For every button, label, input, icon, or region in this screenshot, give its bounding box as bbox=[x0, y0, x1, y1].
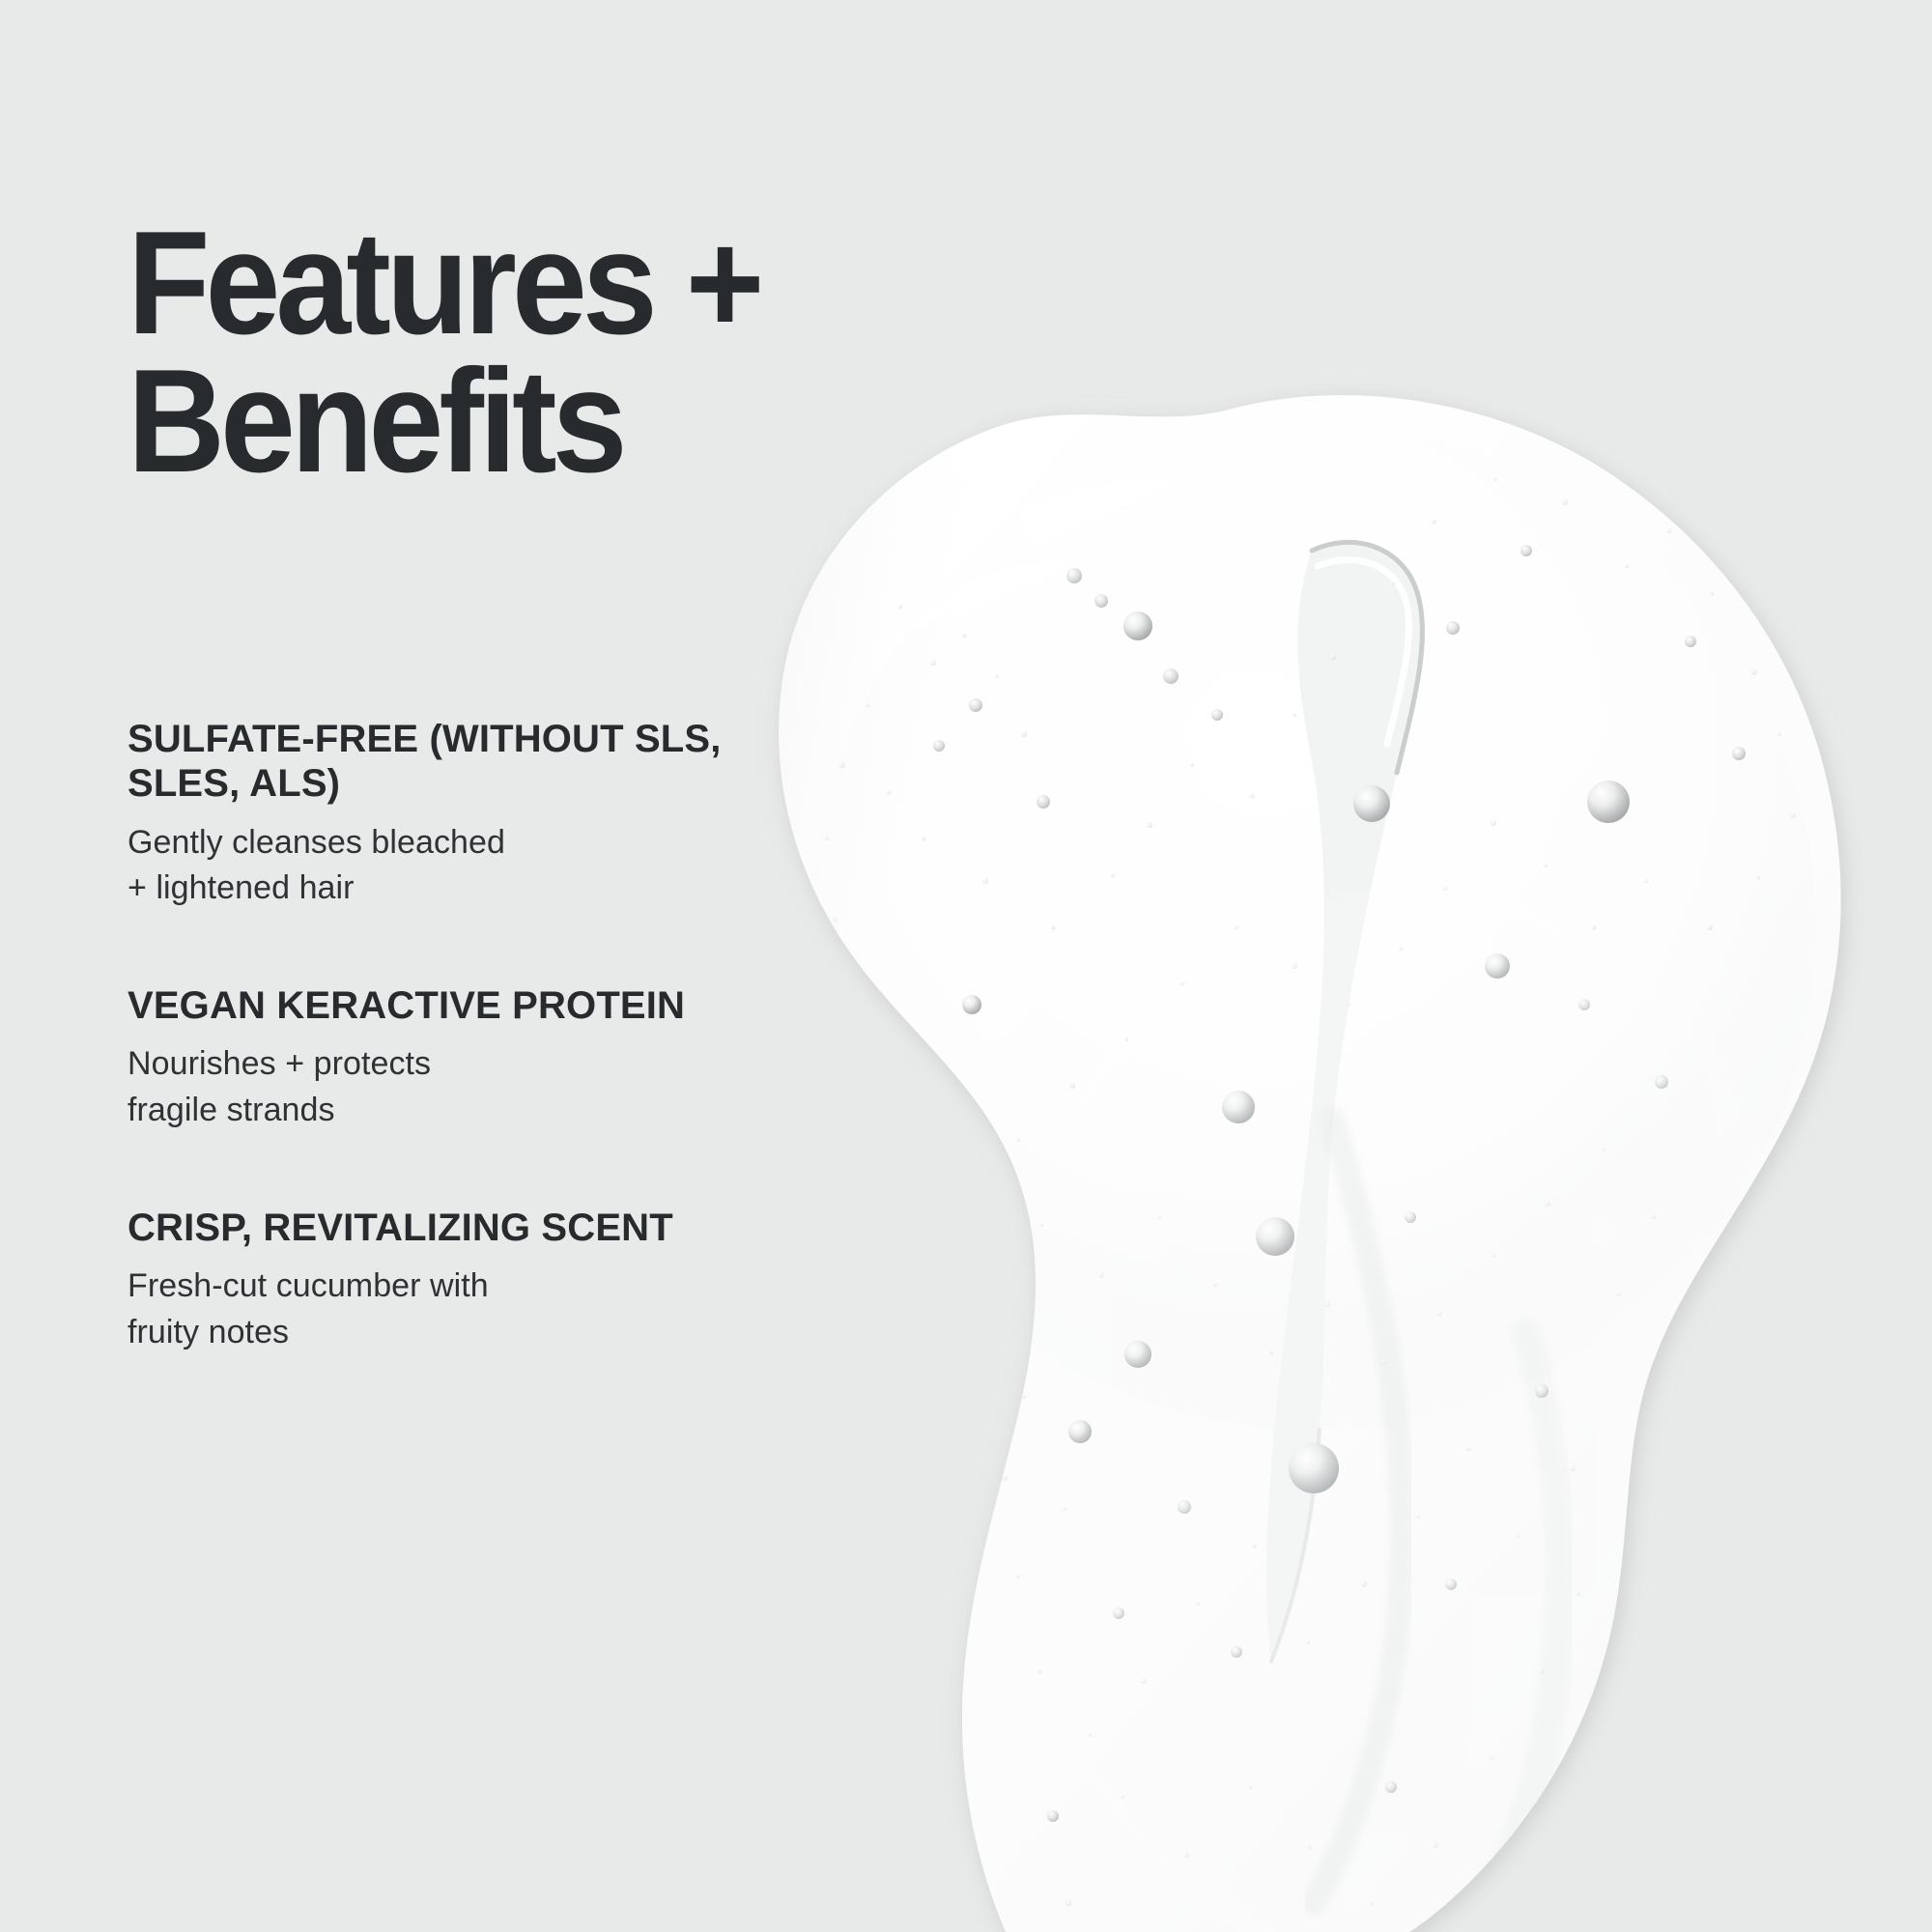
feature-block-vegan-keractive-protein: VEGAN KERACTIVE PROTEIN Nourishes + prot… bbox=[128, 983, 765, 1134]
product-gel-swatch-image bbox=[734, 386, 1932, 1932]
feature-title-sulfate-free: SULFATE-FREE (WITHOUT SLS, SLES, ALS) bbox=[128, 717, 765, 807]
feature-block-crisp-revitalizing-scent: CRISP, REVITALIZING SCENT Fresh-cut cucu… bbox=[128, 1206, 765, 1356]
gel-notch bbox=[1266, 542, 1423, 1662]
feature-title-vegan-keractive-protein: VEGAN KERACTIVE PROTEIN bbox=[128, 983, 765, 1028]
gel-highlight-streaks bbox=[893, 481, 1171, 645]
gel-bubbles-large bbox=[867, 611, 1630, 1493]
gel-bubbles-fine bbox=[825, 477, 1796, 1932]
gel-blob-shape bbox=[779, 395, 1841, 1932]
features-list: SULFATE-FREE (WITHOUT SLS, SLES, ALS) Ge… bbox=[128, 717, 765, 1355]
feature-description-crisp-revitalizing-scent: Fresh-cut cucumber with fruity notes bbox=[128, 1264, 765, 1355]
feature-description-sulfate-free: Gently cleanses bleached + lightened hai… bbox=[128, 820, 765, 912]
feature-block-sulfate-free: SULFATE-FREE (WITHOUT SLS, SLES, ALS) Ge… bbox=[128, 717, 765, 912]
feature-description-vegan-keractive-protein: Nourishes + protects fragile strands bbox=[128, 1041, 765, 1133]
feature-title-crisp-revitalizing-scent: CRISP, REVITALIZING SCENT bbox=[128, 1206, 765, 1250]
marketing-slide: Features + Benefits SULFATE-FREE (WITHOU… bbox=[0, 0, 1932, 1932]
content-column: Features + Benefits SULFATE-FREE (WITHOU… bbox=[128, 0, 804, 1932]
gel-bubbles-medium bbox=[933, 545, 1746, 1822]
page-title: Features + Benefits bbox=[128, 214, 856, 491]
